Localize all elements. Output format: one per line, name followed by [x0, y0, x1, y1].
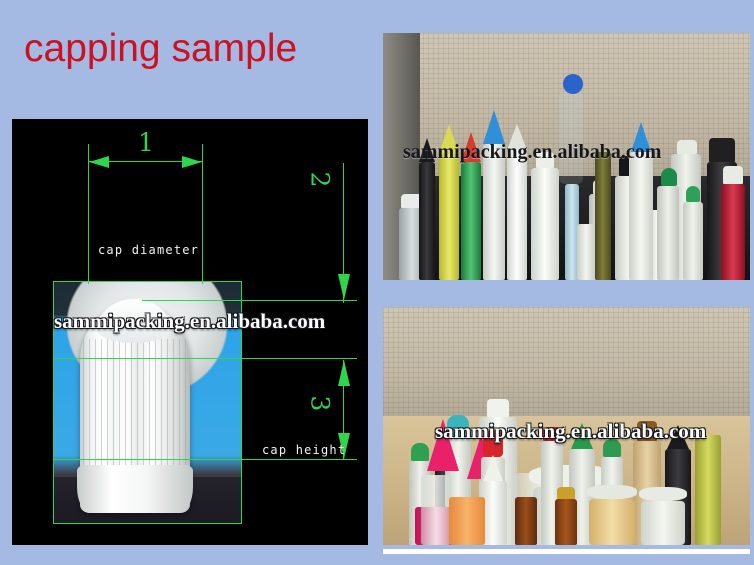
bottle [657, 186, 679, 280]
guide-line-bottom [53, 459, 357, 460]
bottle [483, 144, 505, 280]
bottle [629, 152, 653, 280]
bottle-tip [507, 124, 527, 150]
jar [589, 499, 635, 545]
height2-arrow-down [338, 274, 350, 300]
bottle [421, 475, 451, 545]
bottle-cap-green [686, 186, 700, 202]
bottle-cap-red [543, 427, 561, 441]
bottle-cap [709, 138, 735, 162]
bottle [721, 184, 745, 280]
jar-lid [587, 485, 637, 499]
bottle [515, 497, 537, 545]
diameter-arrow-left [89, 156, 109, 168]
jar [449, 497, 485, 545]
cap-photo-inset [53, 281, 241, 523]
bottle-tip-green [571, 423, 593, 449]
footer-strip [383, 549, 750, 554]
guide-line-top [142, 300, 357, 301]
bottle-cap-blue [563, 74, 583, 94]
bottle-cap-red [483, 431, 503, 457]
bottle [531, 168, 559, 280]
bottle-tip [461, 132, 481, 162]
cap-height-label: cap height [262, 443, 346, 457]
jar-lid [639, 487, 687, 501]
bottle [555, 499, 577, 545]
pegboard-wall [383, 307, 750, 416]
jar [641, 501, 685, 545]
bottle-cap [487, 399, 509, 417]
bottle-tip [439, 124, 459, 154]
height3-arrow-up [338, 360, 350, 386]
extension-line-right [202, 144, 203, 284]
photo-bottles-table: sammipacking.en.alibaba.com [383, 307, 750, 545]
cap-measurement-diagram: 1 cap diameter 2 3 cap height sammipacki… [12, 119, 368, 545]
bottle [461, 162, 481, 280]
slide-root: capping sample 1 cap diameter [0, 0, 754, 565]
bottle [595, 152, 611, 280]
cap-top [97, 299, 171, 343]
bottle-cap [536, 152, 554, 168]
inset-border-left [53, 281, 54, 524]
inset-border-top [53, 281, 242, 282]
bottle-cap [723, 166, 743, 184]
bottle-tip-pink [427, 419, 459, 471]
photo-bottles-pegboard: sammipacking.en.alibaba.com [383, 33, 750, 280]
bottle-tip [667, 425, 689, 449]
bottle-tip [419, 138, 435, 162]
bottle-cap-gold [557, 487, 575, 499]
bottle [439, 154, 459, 280]
bottle [695, 435, 721, 545]
bottle-cap [677, 140, 697, 154]
diameter-arrow-right [182, 156, 202, 168]
dimension-number-2: 2 [307, 172, 332, 188]
cap-diameter-label: cap diameter [98, 243, 199, 257]
bottle [577, 224, 595, 280]
inset-border-right [241, 281, 242, 524]
bottle-tip [483, 455, 503, 481]
bottle-cap [637, 421, 657, 441]
bottle [419, 162, 435, 280]
cap-skirt [77, 465, 193, 513]
dimension-number-1: 1 [138, 130, 154, 155]
bottle-cap-green [661, 168, 677, 186]
page-title: capping sample [24, 27, 297, 71]
bottle-cap-green [603, 439, 621, 457]
bottle-tip [631, 122, 651, 152]
guide-line-middle [53, 358, 357, 359]
bottle [507, 150, 527, 280]
inset-border-bottom [53, 523, 242, 524]
bottle [683, 202, 703, 280]
bottle-cap [559, 92, 583, 184]
bottle-tip [483, 110, 505, 144]
dimension-number-3: 3 [307, 396, 332, 412]
